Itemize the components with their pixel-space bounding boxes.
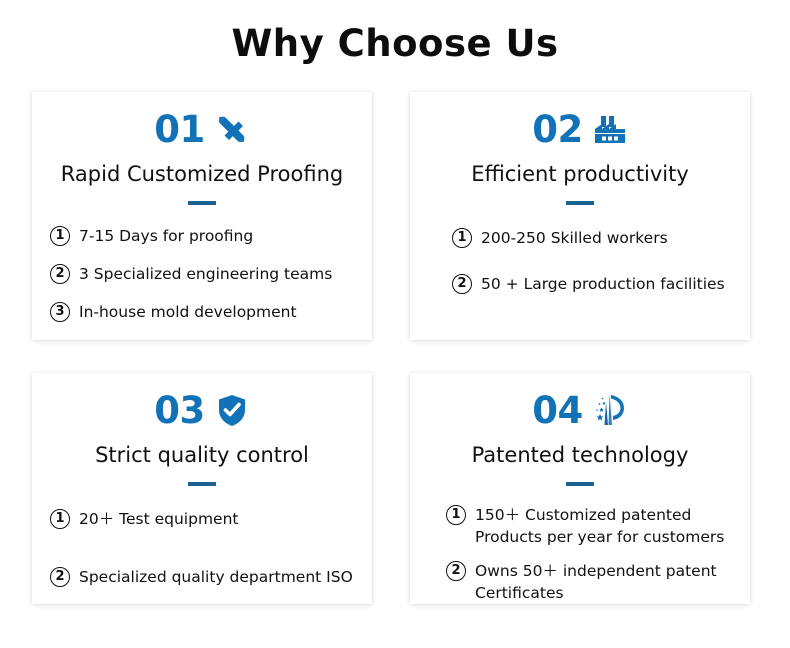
list-item-text: 20＋ Test equipment	[79, 508, 238, 530]
list-item: 1 20＋ Test equipment	[50, 508, 372, 530]
list-item-text: 200-250 Skilled workers	[481, 227, 668, 249]
list-item-text: 150＋ Customized patented Products per ye…	[475, 504, 724, 548]
factory-icon	[592, 111, 628, 147]
list-marker: 2	[50, 264, 70, 284]
list-item: 2 50 + Large production facilities	[452, 273, 750, 295]
card-number: 03	[154, 392, 205, 429]
list-item-text: In-house mold development	[79, 301, 297, 323]
feature-cards-grid: 01	[32, 92, 750, 604]
shield-check-icon	[214, 392, 250, 428]
list-item: 1 200-250 Skilled workers	[452, 227, 750, 249]
list-marker: 1	[50, 226, 70, 246]
page-title: Why Choose Us	[0, 0, 790, 70]
card-header: 01	[32, 106, 372, 152]
list-item: 1 7-15 Days for proofing	[50, 225, 372, 247]
list-item-line-1: 150＋ Customized patented	[475, 506, 691, 524]
list-item: 1 150＋ Customized patented Products per …	[446, 504, 750, 548]
card-feature-list: 1 200-250 Skilled workers 2 50 + Large p…	[410, 227, 750, 295]
feature-card-03: 03 Strict quality control 1 20＋ Test equ…	[32, 373, 372, 604]
card-title: Strict quality control	[32, 443, 372, 467]
list-marker: 1	[50, 509, 70, 529]
card-header: 03	[32, 387, 372, 433]
card-number: 01	[154, 111, 205, 148]
card-feature-list: 1 150＋ Customized patented Products per …	[410, 504, 750, 604]
list-item: 3 In-house mold development	[50, 301, 372, 323]
card-divider	[566, 201, 594, 205]
list-item-text: Specialized quality department ISO	[79, 566, 353, 588]
card-header: 04	[410, 387, 750, 433]
feature-card-04: 04 Patented technology	[410, 373, 750, 604]
card-divider	[566, 482, 594, 486]
card-feature-list: 1 7-15 Days for proofing 2 3 Specialized…	[32, 225, 372, 323]
list-marker: 1	[452, 228, 472, 248]
list-item-line-2: Certificates	[475, 582, 717, 604]
list-marker: 2	[452, 274, 472, 294]
card-title: Rapid Customized Proofing	[32, 162, 372, 186]
list-marker: 3	[50, 302, 70, 322]
card-header: 02	[410, 106, 750, 152]
list-item-text: 7-15 Days for proofing	[79, 225, 253, 247]
card-title: Patented technology	[410, 443, 750, 467]
feature-card-01: 01	[32, 92, 372, 340]
list-item-line-2: Products per year for customers	[475, 526, 724, 548]
list-marker: 2	[446, 561, 466, 581]
card-title: Efficient productivity	[410, 162, 750, 186]
list-item-line-1: Owns 50＋ independent patent	[475, 562, 717, 580]
list-item: 2 Specialized quality department ISO	[50, 566, 372, 588]
ruler-pencil-icon	[214, 111, 250, 147]
card-divider	[188, 482, 216, 486]
card-divider	[188, 201, 216, 205]
card-feature-list: 1 20＋ Test equipment 2 Specialized quali…	[32, 508, 372, 588]
feature-card-02: 02 Efficient productivity	[410, 92, 750, 340]
list-item: 2 Owns 50＋ independent patent Certificat…	[446, 560, 750, 604]
list-marker: 2	[50, 567, 70, 587]
card-number: 02	[532, 111, 583, 148]
list-marker: 1	[446, 505, 466, 525]
list-item-text: 3 Specialized engineering teams	[79, 263, 332, 285]
card-number: 04	[532, 392, 583, 429]
list-item: 2 3 Specialized engineering teams	[50, 263, 372, 285]
list-item-text: Owns 50＋ independent patent Certificates	[475, 560, 717, 604]
list-item-text: 50 + Large production facilities	[481, 273, 725, 295]
patent-p-icon	[592, 392, 628, 428]
